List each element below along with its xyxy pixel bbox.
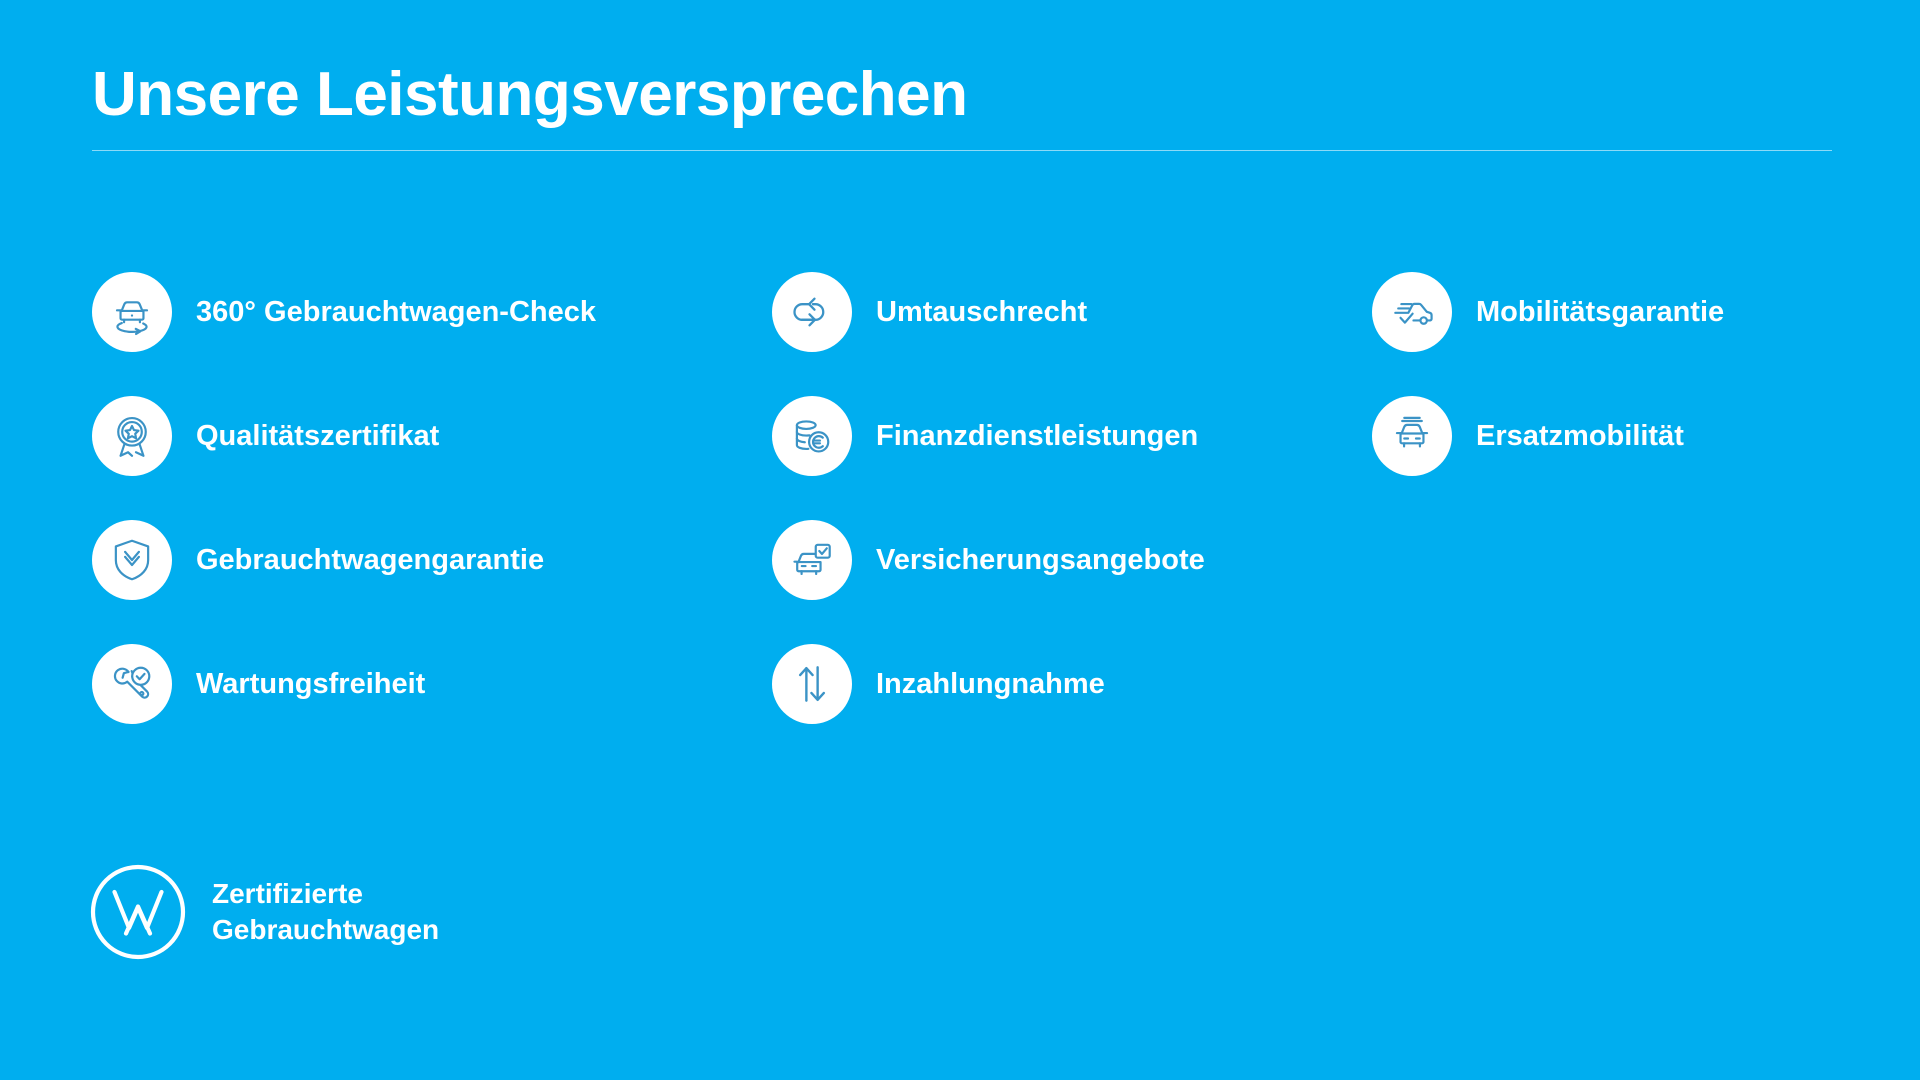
quality-rosette-icon — [92, 396, 172, 476]
promise-label: Ersatzmobilität — [1476, 419, 1684, 454]
promise-item-mobility-guarantee[interactable]: Mobilitätsgarantie — [1372, 272, 1832, 352]
promise-label: Inzahlungnahme — [876, 667, 1105, 702]
header: Unsere Leistungsversprechen — [92, 62, 1832, 151]
coins-euro-icon — [772, 396, 852, 476]
exchange-arrows-icon — [772, 272, 852, 352]
promises-column-2: Umtauschrecht Finanzdienstleistun — [772, 272, 1372, 724]
shield-check-icon — [92, 520, 172, 600]
promise-label: Umtauschrecht — [876, 295, 1087, 330]
promise-label: Qualitätszertifikat — [196, 419, 439, 454]
promise-item-replacement-mobility[interactable]: Ersatzmobilität — [1372, 396, 1832, 476]
title-divider — [92, 150, 1832, 151]
car-insurance-check-icon — [772, 520, 852, 600]
volkswagen-logo — [88, 862, 188, 962]
promise-label: Versicherungsangebote — [876, 543, 1205, 578]
promise-item-maintenance-free[interactable]: Wartungsfreiheit — [92, 644, 772, 724]
promise-label: Gebrauchtwagengarantie — [196, 543, 544, 578]
slide-root: Unsere Leistungsversprechen — [0, 0, 1920, 1080]
promise-item-used-car-warranty[interactable]: Gebrauchtwagengarantie — [92, 520, 772, 600]
promise-label: Mobilitätsgarantie — [1476, 295, 1724, 330]
page-title: Unsere Leistungsversprechen — [92, 62, 1832, 128]
promise-label: Finanzdienstleistungen — [876, 419, 1198, 454]
brand-text: Zertifizierte Gebrauchtwagen — [212, 876, 439, 948]
car-360-check-icon — [92, 272, 172, 352]
moving-car-check-icon — [1372, 272, 1452, 352]
promise-item-insurance-offers[interactable]: Versicherungsangebote — [772, 520, 1372, 600]
promise-item-quality-certificate[interactable]: Qualitätszertifikat — [92, 396, 772, 476]
promise-item-trade-in[interactable]: Inzahlungnahme — [772, 644, 1372, 724]
arrows-up-down-icon — [772, 644, 852, 724]
promise-item-exchange-right[interactable]: Umtauschrecht — [772, 272, 1372, 352]
promises-column-3: Mobilitätsgarantie — [1372, 272, 1832, 476]
promises-column-1: 360° Gebrauchtwagen-Check Qualitätszerti… — [92, 272, 772, 724]
promise-label: 360° Gebrauchtwagen-Check — [196, 295, 596, 330]
replacement-car-icon — [1372, 396, 1452, 476]
wrench-check-icon — [92, 644, 172, 724]
brand-block: Zertifizierte Gebrauchtwagen — [88, 862, 439, 962]
promise-item-financial-services[interactable]: Finanzdienstleistungen — [772, 396, 1372, 476]
promise-label: Wartungsfreiheit — [196, 667, 425, 702]
promise-item-360-check[interactable]: 360° Gebrauchtwagen-Check — [92, 272, 772, 352]
promises-grid: 360° Gebrauchtwagen-Check Qualitätszerti… — [92, 272, 1852, 724]
